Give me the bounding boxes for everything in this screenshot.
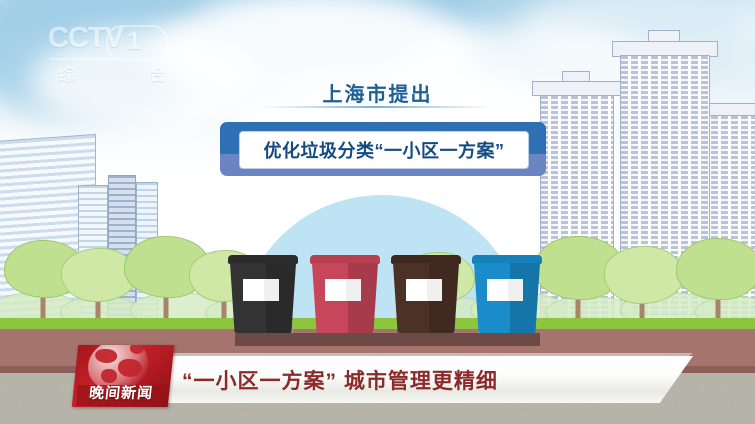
graphic-kicker: 上海市提出 bbox=[0, 78, 755, 107]
cctv-channel-logo: CCTV 1 综 合 bbox=[48, 22, 176, 80]
cctv-channel-number: 1 bbox=[127, 27, 141, 56]
globe-landmass bbox=[100, 369, 117, 383]
graphic-headline-box: 优化垃圾分类“一小区一方案” bbox=[220, 122, 546, 176]
lower-third-headline: “一小区一方案” 城市管理更精细 bbox=[182, 362, 682, 398]
bin-label bbox=[487, 279, 523, 301]
trash-bin-red bbox=[310, 255, 380, 333]
trash-bin-black bbox=[228, 255, 298, 333]
globe-landmass bbox=[94, 349, 117, 363]
bin-lid bbox=[310, 255, 380, 264]
tree-crown bbox=[676, 238, 755, 300]
graphic-headline-text: 优化垃圾分类“一小区一方案” bbox=[239, 131, 529, 169]
bin-label bbox=[406, 279, 442, 301]
globe-landmass bbox=[117, 359, 143, 377]
broadcast-screenshot: CCTV 1 综 合 上海市提出 优化垃圾分类“一小区一方案” “一小区一方案”… bbox=[0, 0, 755, 424]
graphic-kicker-underline bbox=[262, 106, 492, 108]
trash-bin-brown bbox=[391, 255, 461, 333]
bin-lid bbox=[228, 255, 298, 264]
label-shadow bbox=[508, 279, 523, 301]
trash-bin-blue bbox=[472, 255, 542, 333]
globe-landmass bbox=[129, 345, 144, 354]
bin-lid bbox=[391, 255, 461, 264]
bin-label bbox=[325, 279, 361, 301]
tree bbox=[672, 238, 755, 326]
bin-platform bbox=[235, 333, 540, 346]
label-shadow bbox=[427, 279, 442, 301]
bin-lid bbox=[472, 255, 542, 264]
label-shadow bbox=[346, 279, 361, 301]
bin-label bbox=[243, 279, 279, 301]
program-logo-box: 晚间新闻 bbox=[72, 345, 175, 407]
label-shadow bbox=[264, 279, 279, 301]
program-name: 晚间新闻 bbox=[72, 382, 170, 403]
